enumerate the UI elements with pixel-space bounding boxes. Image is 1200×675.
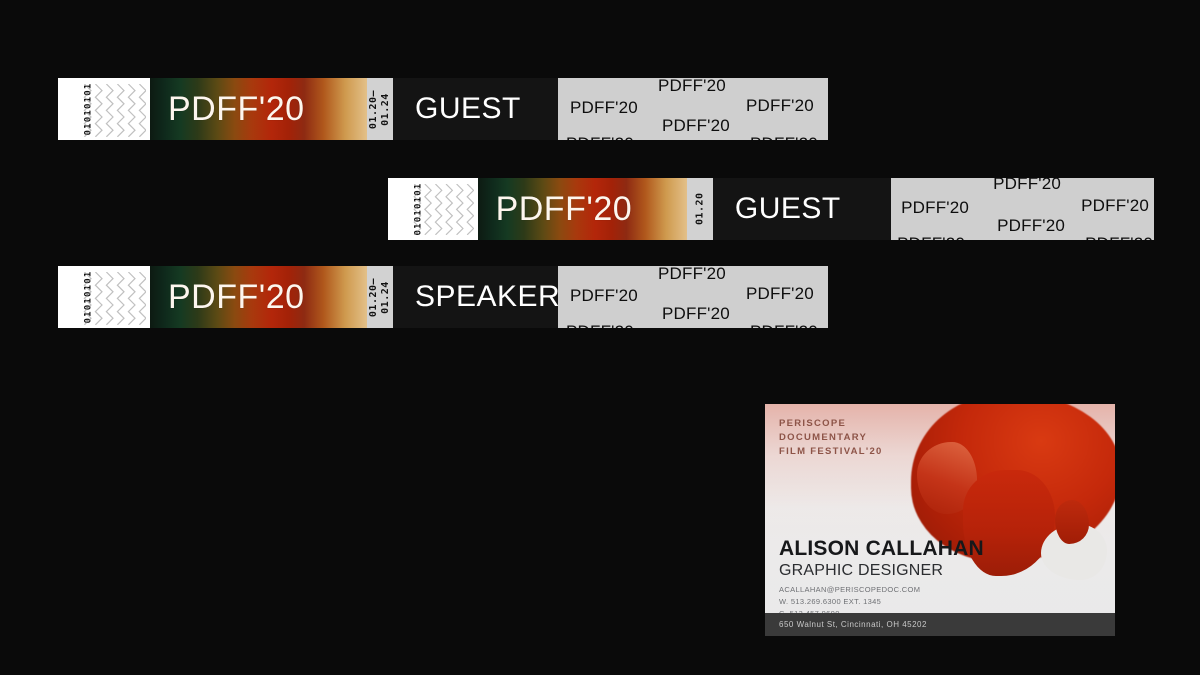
tiled-pattern-panel: PDFF'20 PDFF'20 PDFF'20 PDFF'20 PDFF'20 … [891,178,1154,240]
tiled-pattern-panel: PDFF'20 PDFF'20 PDFF'20 PDFF'20 PDFF'20 … [558,78,828,140]
tile-text: PDFF'20 [662,304,730,324]
badge-stub: 01010101 [58,78,150,140]
tile-text: PDFF'20 [997,216,1065,236]
role-label: SPEAKER [415,280,560,314]
red-ink-droplet [1055,500,1089,544]
date-range-label: 01.20 [694,193,706,226]
role-panel: GUEST [393,78,558,140]
business-card: PERISCOPE DOCUMENTARY FILM FESTIVAL'20 A… [765,404,1115,636]
tile-text: PDFF'20 [1081,196,1149,216]
badge-row-guest-1: 01010101 PDFF'20 01.20— 01.24 [58,78,828,140]
date-range-label: 01.20— 01.24 [369,277,392,316]
badge-stub: 01010101 [58,266,150,328]
tile-text: PDFF'20 [566,322,634,328]
card-email: ACALLAHAN@PERISCOPEDOC.COM [779,584,920,596]
gradient-banner: PDFF'20 [150,266,367,328]
tile-text: PDFF'20 [658,78,726,96]
card-holder-title: GRAPHIC DESIGNER [779,562,943,580]
tile-text: PDFF'20 [662,116,730,136]
tiled-pattern-panel: PDFF'20 PDFF'20 PDFF'20 PDFF'20 PDFF'20 … [558,266,828,328]
gradient-banner: PDFF'20 [150,78,367,140]
festival-title: PDFF'20 [478,190,633,229]
role-panel: GUEST [713,178,891,240]
zigzag-pattern-icon [410,184,474,235]
tile-text: PDFF'20 [750,322,818,328]
date-tab: 01.20— 01.24 [367,78,393,140]
festival-title: PDFF'20 [150,90,305,129]
tile-text: PDFF'20 [570,98,638,118]
badge-stub: 01010101 [388,178,478,240]
brand-line-1: PERISCOPE [779,417,883,431]
festival-title: PDFF'20 [150,278,305,317]
tile-text: PDFF'20 [750,134,818,140]
tile-text: PDFF'20 [570,286,638,306]
badge-row-guest-2: 01010101 PDFF'20 01.20 GUEST PDFF' [388,178,1154,240]
zigzag-pattern-icon [80,272,146,325]
tile-text: PDFF'20 [901,198,969,218]
role-label: GUEST [735,192,841,226]
card-brand-lockup: PERISCOPE DOCUMENTARY FILM FESTIVAL'20 [779,417,883,458]
card-work-phone: W. 513.269.6300 EXT. 1345 [779,596,920,608]
brand-line-3: FILM FESTIVAL'20 [779,445,883,459]
tile-text: PDFF'20 [566,134,634,140]
card-address: 650 Walnut St, Cincinnati, OH 45202 [779,620,927,629]
gradient-banner: PDFF'20 [478,178,687,240]
tile-text: PDFF'20 [746,96,814,116]
role-panel: SPEAKER [393,266,558,328]
date-tab: 01.20— 01.24 [367,266,393,328]
badge-row-speaker: 01010101 PDFF'20 01.20— 01.24 [58,266,828,328]
tile-text: PDFF'20 [746,284,814,304]
brand-line-2: DOCUMENTARY [779,431,883,445]
tile-text: PDFF'20 [658,266,726,284]
tile-text: PDFF'20 [897,234,965,240]
card-holder-name: ALISON CALLAHAN [779,537,984,561]
role-label: GUEST [415,92,521,126]
zigzag-pattern-icon [80,84,146,137]
date-tab: 01.20 [687,178,713,240]
card-address-bar: 650 Walnut St, Cincinnati, OH 45202 [765,613,1115,636]
tile-text: PDFF'20 [1085,234,1153,240]
poster-canvas: 01010101 PDFF'20 01.20— 01.24 [0,0,1200,675]
date-range-label: 01.20— 01.24 [369,89,392,128]
tile-text: PDFF'20 [993,178,1061,194]
